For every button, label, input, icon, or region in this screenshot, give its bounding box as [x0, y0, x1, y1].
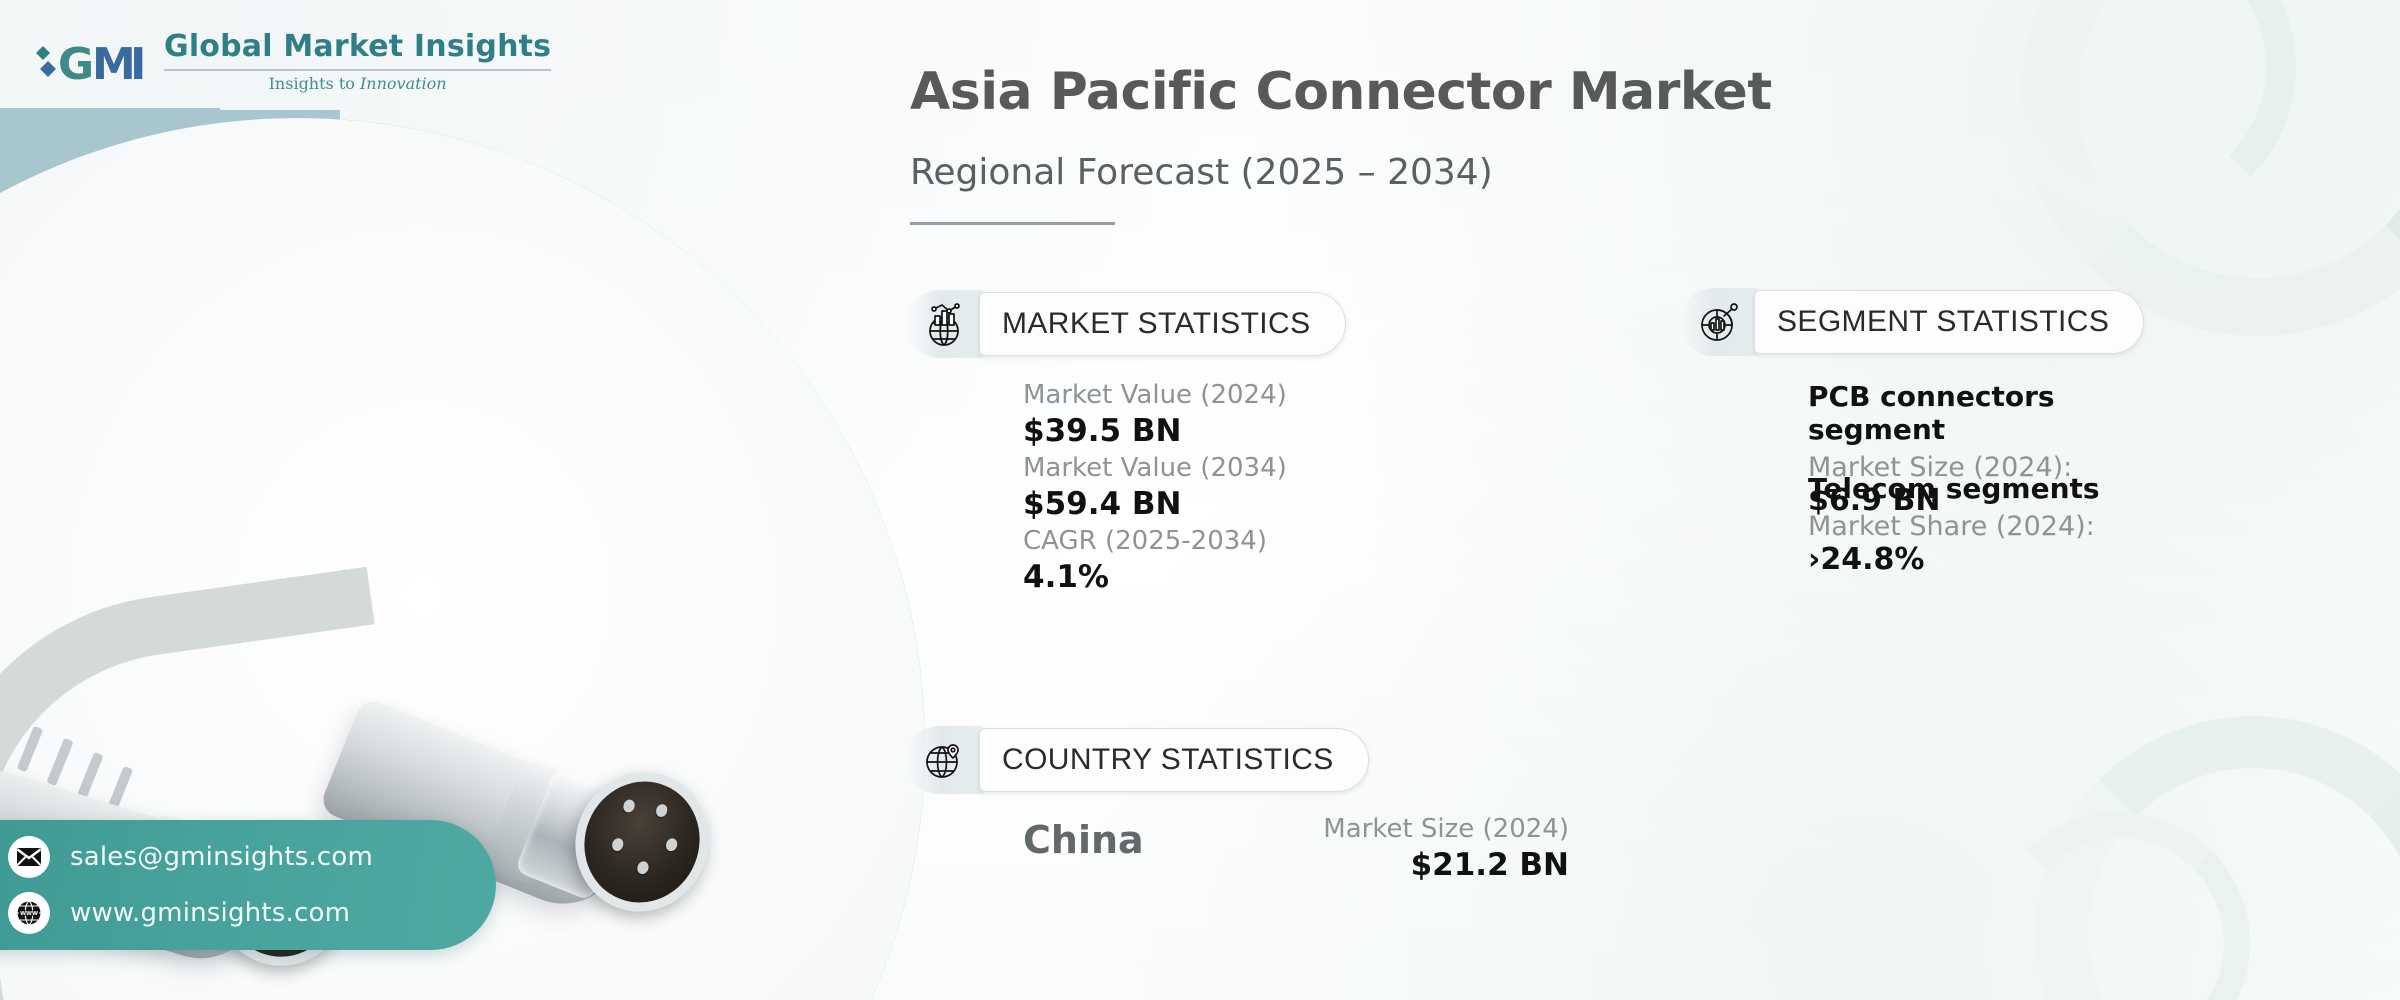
tagline-prefix: Insights to — [269, 74, 360, 93]
market-statistics-header[interactable]: MARKET STATISTICS — [905, 290, 1346, 358]
country-statistics-label: COUNTRY STATISTICS — [979, 728, 1369, 792]
donut-chart-icon — [1680, 288, 1758, 356]
segment-item-0-title: PCB connectors segment — [1808, 380, 2144, 446]
envelope-icon — [8, 836, 50, 878]
gmi-logo-text: Global Market Insights Insights to Innov… — [164, 32, 551, 92]
segment-statistics-section: SEGMENT STATISTICS PCB connectors segmen… — [1680, 288, 2144, 356]
segment-statistics-header[interactable]: SEGMENT STATISTICS — [1680, 288, 2144, 356]
gmi-monogram-icon: G M I — [30, 33, 150, 91]
market-stat-1-value: $59.4 BN — [1023, 486, 1287, 522]
market-stat-2-label: CAGR (2025-2034) — [1023, 526, 1267, 556]
globe-bar-chart-icon — [905, 290, 983, 358]
tagline-emphasis: Innovation — [360, 74, 447, 93]
gmi-logo-name: Global Market Insights — [164, 32, 551, 62]
country-metric-block: Market Size (2024) $21.2 BN — [1301, 814, 1569, 883]
market-stat-0-value: $39.5 BN — [1023, 413, 1287, 449]
market-stat-2-value: 4.1% — [1023, 559, 1267, 595]
country-name: China — [1023, 818, 1144, 862]
country-metric-label: Market Size (2024) — [1301, 814, 1569, 844]
svg-text:G: G — [58, 39, 94, 90]
country-statistics-section: COUNTRY STATISTICS China Market Size (20… — [905, 726, 1369, 794]
gmi-logo[interactable]: G M I Global Market Insights Insights to… — [30, 32, 551, 92]
country-metric-value: $21.2 BN — [1301, 847, 1569, 883]
www-globe-icon: WWW — [8, 892, 50, 934]
gmi-logo-divider — [164, 69, 551, 71]
content-column: Asia Pacific Connector Market Regional F… — [905, 0, 2400, 1000]
contact-email-row[interactable]: sales@gminsights.com — [8, 836, 496, 878]
segment-item-1: Telecom segments Market Share (2024): ›2… — [1808, 472, 2144, 577]
segment-item-1-title: Telecom segments — [1808, 472, 2144, 505]
gmi-logo-tagline: Insights to Innovation — [164, 76, 551, 92]
gmi-logo-mark: G M I — [30, 33, 150, 91]
country-statistics-header[interactable]: COUNTRY STATISTICS — [905, 726, 1369, 794]
contact-badge: sales@gminsights.com WWW www.gminsights.… — [0, 820, 496, 950]
market-stat-1: Market Value (2034) $59.4 BN — [1023, 453, 1287, 522]
market-stat-0: Market Value (2024) $39.5 BN — [1023, 380, 1287, 449]
market-stat-2: CAGR (2025-2034) 4.1% — [1023, 526, 1267, 595]
globe-pin-icon — [905, 726, 983, 794]
country-name-block: China — [1023, 818, 1144, 862]
market-statistics-section: MARKET STATISTICS Market Value (2024) $3… — [905, 290, 1346, 358]
svg-text:WWW: WWW — [20, 911, 38, 917]
market-stat-0-label: Market Value (2024) — [1023, 380, 1287, 410]
page-subtitle: Regional Forecast (2025 – 2034) — [910, 152, 1493, 193]
contact-website-row[interactable]: WWW www.gminsights.com — [8, 892, 496, 934]
segment-item-1-metric-value: ›24.8% — [1808, 542, 1924, 577]
market-stat-1-label: Market Value (2034) — [1023, 453, 1287, 483]
contact-website: www.gminsights.com — [70, 898, 350, 928]
page-title: Asia Pacific Connector Market — [910, 62, 1772, 122]
title-underline — [910, 222, 1115, 225]
svg-text:I: I — [130, 39, 146, 90]
infographic-canvas: G M I Global Market Insights Insights to… — [0, 0, 2400, 1000]
contact-email: sales@gminsights.com — [70, 842, 373, 872]
segment-item-1-metric-label: Market Share (2024): — [1808, 511, 2095, 542]
segment-statistics-label: SEGMENT STATISTICS — [1754, 290, 2144, 354]
market-statistics-label: MARKET STATISTICS — [979, 292, 1346, 356]
